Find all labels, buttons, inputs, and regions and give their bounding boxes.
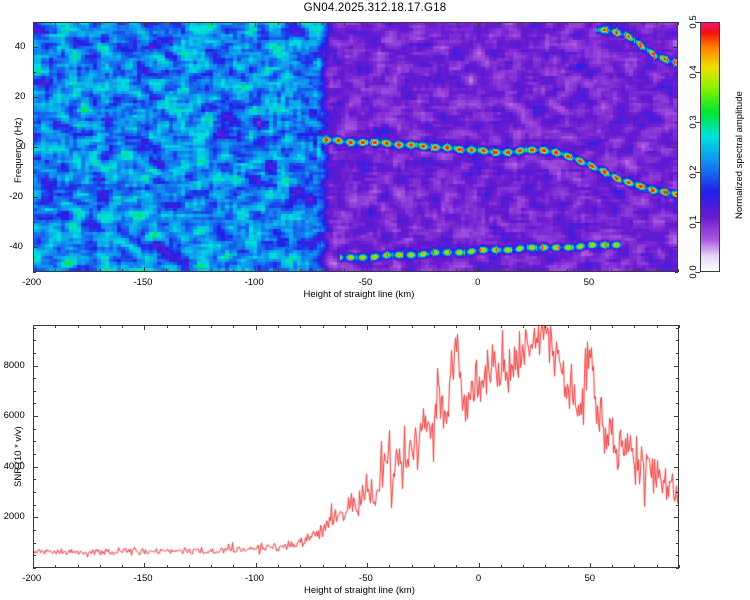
axis-tick-mark bbox=[434, 325, 435, 328]
axis-tick-mark bbox=[674, 416, 679, 417]
axis-tick-mark bbox=[612, 565, 613, 568]
axis-tick-mark bbox=[522, 269, 523, 272]
spectrogram-xtick-50: 50 bbox=[584, 277, 595, 288]
axis-tick-mark bbox=[389, 565, 390, 568]
axis-tick-mark bbox=[568, 565, 569, 568]
axis-tick-mark bbox=[166, 269, 167, 272]
figure-root: GN04.2025.312.18.17.G18 -200-150-100-500… bbox=[0, 0, 750, 600]
axis-tick-mark bbox=[568, 325, 569, 328]
axis-tick-mark bbox=[33, 530, 36, 531]
spectrogram-xtick--200: -200 bbox=[22, 277, 41, 288]
axis-tick-mark bbox=[189, 325, 190, 328]
axis-tick-mark bbox=[167, 325, 168, 328]
axis-tick-mark bbox=[612, 325, 613, 328]
axis-tick-mark bbox=[674, 366, 679, 367]
axis-tick-mark bbox=[33, 366, 38, 367]
axis-tick-mark bbox=[676, 555, 679, 556]
axis-tick-mark bbox=[100, 325, 101, 328]
axis-tick-mark bbox=[501, 565, 502, 568]
axis-tick-mark bbox=[673, 197, 678, 198]
axis-tick-mark bbox=[233, 565, 234, 568]
axis-tick-mark bbox=[33, 72, 36, 73]
axis-tick-mark bbox=[500, 269, 501, 272]
axis-tick-mark bbox=[33, 416, 38, 417]
axis-tick-mark bbox=[33, 492, 36, 493]
axis-tick-mark bbox=[678, 22, 679, 25]
axis-tick-mark bbox=[478, 22, 479, 27]
axis-tick-mark bbox=[33, 403, 36, 404]
snr-ytick-2000: 2000 bbox=[4, 511, 25, 522]
axis-tick-mark bbox=[590, 563, 591, 568]
axis-tick-mark bbox=[233, 22, 234, 25]
axis-tick-mark bbox=[567, 22, 568, 25]
colorbar-tick-0.4: 0.4 bbox=[688, 65, 699, 78]
snr-xtick-0: 0 bbox=[476, 573, 481, 584]
axis-tick-mark bbox=[675, 272, 678, 273]
axis-tick-mark bbox=[676, 530, 679, 531]
axis-tick-mark bbox=[545, 22, 546, 25]
axis-tick-mark bbox=[673, 147, 678, 148]
spectrogram-ytick--40: -40 bbox=[9, 241, 23, 252]
axis-tick-mark bbox=[278, 269, 279, 272]
axis-tick-mark bbox=[675, 122, 678, 123]
snr-x-axis-label: Height of straight line (km) bbox=[304, 585, 415, 596]
axis-tick-mark bbox=[167, 565, 168, 568]
spectrogram-xtick--150: -150 bbox=[133, 277, 152, 288]
axis-tick-mark bbox=[676, 429, 679, 430]
axis-tick-mark bbox=[634, 565, 635, 568]
axis-tick-mark bbox=[523, 325, 524, 328]
axis-tick-mark bbox=[55, 325, 56, 328]
axis-tick-mark bbox=[300, 565, 301, 568]
axis-tick-mark bbox=[100, 269, 101, 272]
axis-tick-mark bbox=[389, 269, 390, 272]
spectrogram-xtick--100: -100 bbox=[245, 277, 264, 288]
axis-tick-mark bbox=[589, 267, 590, 272]
axis-tick-mark bbox=[456, 269, 457, 272]
axis-tick-mark bbox=[676, 543, 679, 544]
axis-tick-mark bbox=[412, 565, 413, 568]
axis-tick-mark bbox=[33, 555, 36, 556]
axis-tick-mark bbox=[522, 22, 523, 25]
axis-tick-mark bbox=[144, 267, 145, 272]
snr-y-axis-label: SNR (10 * v/v) bbox=[13, 426, 24, 487]
axis-tick-mark bbox=[33, 22, 36, 23]
axis-tick-mark bbox=[676, 353, 679, 354]
axis-tick-mark bbox=[676, 378, 679, 379]
axis-tick-mark bbox=[122, 325, 123, 328]
axis-tick-mark bbox=[679, 565, 680, 568]
axis-tick-mark bbox=[33, 340, 36, 341]
axis-tick-mark bbox=[189, 269, 190, 272]
snr-xtick--150: -150 bbox=[134, 573, 153, 584]
axis-tick-mark bbox=[545, 565, 546, 568]
axis-tick-mark bbox=[77, 22, 78, 25]
axis-tick-mark bbox=[344, 269, 345, 272]
axis-tick-mark bbox=[255, 22, 256, 27]
axis-tick-mark bbox=[344, 22, 345, 25]
colorbar-tick-0.3: 0.3 bbox=[688, 115, 699, 128]
colorbar-tick-0.1: 0.1 bbox=[688, 215, 699, 228]
axis-tick-mark bbox=[678, 269, 679, 272]
axis-tick-mark bbox=[590, 325, 591, 330]
axis-tick-mark bbox=[611, 22, 612, 25]
axis-tick-mark bbox=[676, 441, 679, 442]
axis-tick-mark bbox=[323, 325, 324, 328]
axis-tick-mark bbox=[55, 269, 56, 272]
spectrogram-ytick-20: 20 bbox=[15, 91, 26, 102]
axis-tick-mark bbox=[676, 391, 679, 392]
colorbar-tick-0.0: 0.0 bbox=[688, 265, 699, 278]
axis-tick-mark bbox=[211, 325, 212, 328]
snr-ytick-6000: 6000 bbox=[4, 410, 25, 421]
axis-tick-mark bbox=[434, 565, 435, 568]
axis-tick-mark bbox=[589, 22, 590, 27]
axis-tick-mark bbox=[278, 22, 279, 25]
spectrogram-plot bbox=[33, 22, 678, 272]
axis-tick-mark bbox=[523, 565, 524, 568]
axis-tick-mark bbox=[676, 328, 679, 329]
axis-tick-mark bbox=[33, 479, 36, 480]
axis-tick-mark bbox=[33, 147, 38, 148]
axis-tick-mark bbox=[33, 391, 36, 392]
axis-tick-mark bbox=[322, 269, 323, 272]
axis-tick-mark bbox=[389, 325, 390, 328]
axis-tick-mark bbox=[676, 505, 679, 506]
axis-tick-mark bbox=[33, 568, 36, 569]
axis-tick-mark bbox=[33, 172, 36, 173]
axis-tick-mark bbox=[500, 22, 501, 25]
axis-tick-mark bbox=[433, 22, 434, 25]
axis-tick-mark bbox=[674, 517, 679, 518]
axis-tick-mark bbox=[122, 269, 123, 272]
axis-tick-mark bbox=[567, 269, 568, 272]
axis-tick-mark bbox=[122, 22, 123, 25]
spectrogram-ytick-40: 40 bbox=[15, 41, 26, 52]
axis-tick-mark bbox=[675, 72, 678, 73]
axis-tick-mark bbox=[611, 269, 612, 272]
axis-tick-mark bbox=[676, 568, 679, 569]
axis-tick-mark bbox=[33, 197, 38, 198]
colorbar-gradient bbox=[700, 22, 720, 272]
axis-tick-mark bbox=[233, 325, 234, 328]
axis-tick-mark bbox=[33, 429, 36, 430]
axis-tick-mark bbox=[411, 22, 412, 25]
axis-tick-mark bbox=[33, 378, 36, 379]
axis-tick-mark bbox=[675, 222, 678, 223]
axis-tick-mark bbox=[676, 479, 679, 480]
axis-tick-mark bbox=[674, 467, 679, 468]
axis-tick-mark bbox=[211, 565, 212, 568]
colorbar-label: Normalized spectral amplitude bbox=[734, 91, 745, 219]
axis-tick-mark bbox=[33, 247, 38, 248]
snr-xtick--100: -100 bbox=[245, 573, 264, 584]
axis-tick-mark bbox=[189, 22, 190, 25]
axis-tick-mark bbox=[33, 222, 36, 223]
spectrogram-xtick--50: -50 bbox=[359, 277, 373, 288]
axis-tick-mark bbox=[456, 22, 457, 25]
snr-xtick-50: 50 bbox=[584, 573, 595, 584]
axis-tick-mark bbox=[33, 328, 36, 329]
snr-ytick-8000: 8000 bbox=[4, 360, 25, 371]
spectrogram-y-axis-label: Frequency (Hz) bbox=[13, 118, 24, 183]
axis-tick-mark bbox=[33, 353, 36, 354]
axis-tick-mark bbox=[322, 22, 323, 25]
axis-tick-mark bbox=[55, 22, 56, 25]
axis-tick-mark bbox=[675, 172, 678, 173]
axis-tick-mark bbox=[501, 325, 502, 328]
axis-tick-mark bbox=[673, 247, 678, 248]
spectrogram-x-axis-label: Height of straight line (km) bbox=[304, 289, 415, 300]
axis-tick-mark bbox=[33, 467, 38, 468]
axis-tick-mark bbox=[55, 565, 56, 568]
axis-tick-mark bbox=[300, 325, 301, 328]
axis-tick-mark bbox=[656, 22, 657, 25]
axis-tick-mark bbox=[676, 403, 679, 404]
axis-tick-mark bbox=[634, 22, 635, 25]
axis-tick-mark bbox=[78, 565, 79, 568]
axis-tick-mark bbox=[412, 325, 413, 328]
axis-tick-mark bbox=[411, 269, 412, 272]
spectrogram-ytick--20: -20 bbox=[9, 191, 23, 202]
axis-tick-mark bbox=[144, 563, 145, 568]
axis-tick-mark bbox=[77, 269, 78, 272]
axis-tick-mark bbox=[456, 565, 457, 568]
axis-tick-mark bbox=[33, 543, 36, 544]
axis-tick-mark bbox=[389, 22, 390, 25]
axis-tick-mark bbox=[367, 22, 368, 27]
axis-tick-mark bbox=[545, 269, 546, 272]
axis-tick-mark bbox=[33, 47, 38, 48]
snr-xtick--50: -50 bbox=[359, 573, 373, 584]
axis-tick-mark bbox=[634, 269, 635, 272]
axis-tick-mark bbox=[676, 454, 679, 455]
axis-tick-mark bbox=[345, 325, 346, 328]
colorbar-tick-0.5: 0.5 bbox=[688, 15, 699, 28]
spectrogram-xtick-0: 0 bbox=[475, 277, 480, 288]
axis-tick-mark bbox=[33, 454, 36, 455]
axis-tick-mark bbox=[300, 22, 301, 25]
axis-tick-mark bbox=[657, 325, 658, 328]
axis-tick-mark bbox=[545, 325, 546, 328]
axis-tick-mark bbox=[679, 325, 680, 328]
axis-tick-mark bbox=[144, 22, 145, 27]
axis-tick-mark bbox=[478, 267, 479, 272]
axis-tick-mark bbox=[78, 325, 79, 328]
axis-tick-mark bbox=[211, 22, 212, 25]
axis-tick-mark bbox=[656, 269, 657, 272]
axis-tick-mark bbox=[33, 97, 38, 98]
axis-tick-mark bbox=[456, 325, 457, 328]
axis-tick-mark bbox=[367, 325, 368, 330]
axis-tick-mark bbox=[675, 22, 678, 23]
axis-tick-mark bbox=[33, 272, 36, 273]
axis-tick-mark bbox=[278, 325, 279, 328]
axis-tick-mark bbox=[256, 563, 257, 568]
axis-tick-mark bbox=[211, 269, 212, 272]
axis-tick-mark bbox=[676, 492, 679, 493]
figure-title: GN04.2025.312.18.17.G18 bbox=[0, 2, 750, 14]
axis-tick-mark bbox=[33, 517, 38, 518]
axis-tick-mark bbox=[657, 565, 658, 568]
axis-tick-mark bbox=[100, 565, 101, 568]
axis-tick-mark bbox=[166, 22, 167, 25]
axis-tick-mark bbox=[367, 563, 368, 568]
axis-tick-mark bbox=[33, 122, 36, 123]
axis-tick-mark bbox=[278, 565, 279, 568]
axis-tick-mark bbox=[676, 340, 679, 341]
axis-tick-mark bbox=[433, 269, 434, 272]
axis-tick-mark bbox=[233, 269, 234, 272]
axis-tick-mark bbox=[634, 325, 635, 328]
axis-tick-mark bbox=[479, 325, 480, 330]
snr-xtick--200: -200 bbox=[22, 573, 41, 584]
axis-tick-mark bbox=[367, 267, 368, 272]
axis-tick-mark bbox=[255, 267, 256, 272]
axis-tick-mark bbox=[345, 565, 346, 568]
axis-tick-mark bbox=[100, 22, 101, 25]
axis-tick-mark bbox=[479, 563, 480, 568]
axis-tick-mark bbox=[33, 505, 36, 506]
axis-tick-mark bbox=[300, 269, 301, 272]
axis-tick-mark bbox=[673, 47, 678, 48]
axis-tick-mark bbox=[189, 565, 190, 568]
axis-tick-mark bbox=[256, 325, 257, 330]
axis-tick-mark bbox=[122, 565, 123, 568]
axis-tick-mark bbox=[144, 325, 145, 330]
axis-tick-mark bbox=[323, 565, 324, 568]
snr-plot bbox=[33, 325, 679, 568]
axis-tick-mark bbox=[33, 441, 36, 442]
axis-tick-mark bbox=[673, 97, 678, 98]
colorbar-tick-0.2: 0.2 bbox=[688, 165, 699, 178]
